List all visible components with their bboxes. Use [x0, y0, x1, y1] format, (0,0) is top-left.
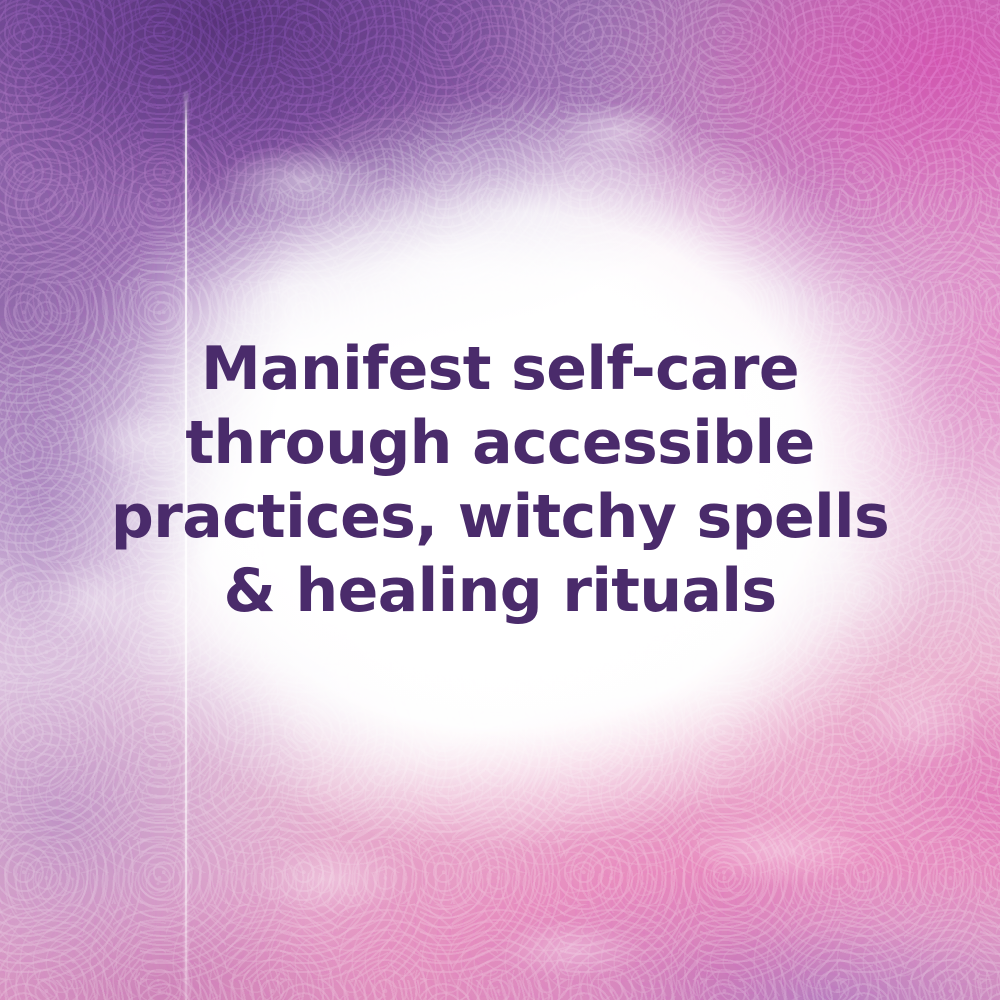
quote-line-3: practices, witchy spells [0, 480, 1000, 554]
quote-line-4: & healing rituals [0, 554, 1000, 628]
quote-line-2: through accessible [0, 406, 1000, 480]
quote-line-1: Manifest self-care [0, 332, 1000, 406]
quote-poster: Manifest self-care through accessible pr… [0, 0, 1000, 1000]
quote-text-block: Manifest self-care through accessible pr… [0, 332, 1000, 628]
